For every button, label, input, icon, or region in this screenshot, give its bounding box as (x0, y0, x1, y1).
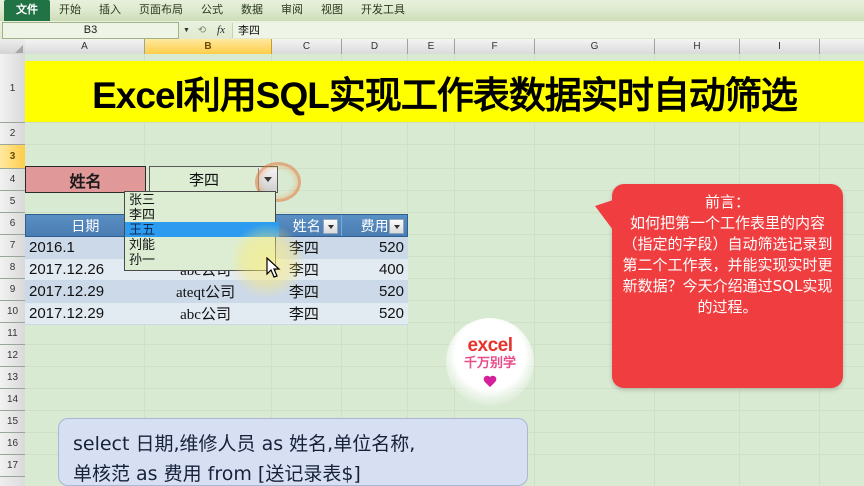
page-title: Excel利用SQL实现工作表数据实时自动筛选 (92, 65, 797, 119)
gridline (25, 388, 864, 389)
ribbon-tab-developer[interactable]: 开发工具 (352, 1, 414, 21)
cell-name: 李四 (268, 259, 340, 280)
column-header-h[interactable]: H (655, 39, 740, 54)
column-header-e[interactable]: E (408, 39, 455, 54)
insert-function-icon[interactable]: fx (210, 23, 232, 38)
cell-fee: 520 (340, 237, 408, 258)
column-header-j[interactable] (820, 39, 864, 54)
callout-text: 前言： 如何把第一个工作表里的内容（指定的字段）自动筛选记录到第二个工作表，并能… (612, 184, 843, 318)
row-header-16[interactable]: 16 (0, 433, 25, 455)
cell-company: ateqt公司 (143, 281, 268, 302)
row-header-12[interactable]: 12 (0, 345, 25, 367)
gridline (25, 122, 864, 123)
excel-window: 文件 开始 插入 页面布局 公式 数据 审阅 视图 开发工具 B3 ▼ ⟲ fx… (0, 0, 864, 486)
ribbon-tab-insert[interactable]: 插入 (90, 1, 130, 21)
ribbon-tab-file[interactable]: 文件 (4, 0, 50, 21)
excel-watermark-logo: excel 千万别学 (446, 318, 534, 406)
title-banner: Excel利用SQL实现工作表数据实时自动筛选 (25, 61, 864, 122)
filter-label-name: 姓名 (25, 166, 146, 193)
name-box-chevron-down-icon[interactable]: ▼ (179, 23, 194, 38)
select-all-corner[interactable] (0, 39, 26, 54)
row-header-8[interactable]: 8 (0, 257, 25, 279)
heart-icon (483, 376, 497, 389)
ribbon-tab-data[interactable]: 数据 (232, 1, 272, 21)
ribbon-tab-view[interactable]: 视图 (312, 1, 352, 21)
dropdown-option-lisi[interactable]: 李四 (125, 207, 275, 222)
column-header-f[interactable]: F (455, 39, 535, 54)
column-header-b[interactable]: B (145, 39, 272, 54)
cell-company: abc公司 (143, 303, 268, 324)
column-header-i[interactable]: I (740, 39, 820, 54)
cell-fee: 400 (340, 259, 408, 280)
row-header-2[interactable]: 2 (0, 123, 25, 145)
dropdown-option-wangwu[interactable]: 王五 (125, 222, 279, 237)
ribbon-tab-review[interactable]: 审阅 (272, 1, 312, 21)
name-box[interactable]: B3 (2, 22, 179, 39)
row-header-5[interactable]: 5 (0, 191, 25, 213)
row-header-6[interactable]: 6 (0, 213, 25, 235)
ribbon-tab-bar: 文件 开始 插入 页面布局 公式 数据 审阅 视图 开发工具 (0, 0, 864, 22)
column-header-d[interactable]: D (342, 39, 408, 54)
sql-line-1: select 日期,维修人员 as 姓名,单位名称, (73, 429, 513, 459)
row-header-17[interactable]: 17 (0, 455, 25, 477)
undo-icon[interactable]: ⟲ (194, 23, 210, 38)
intro-callout: 前言： 如何把第一个工作表里的内容（指定的字段）自动筛选记录到第二个工作表，并能… (612, 184, 843, 388)
dropdown-option-zhangsan[interactable]: 张三 (125, 192, 275, 207)
table-header-name: 姓名 (272, 215, 342, 236)
sql-line-2: 单核范 as 费用 from [送记录表$] (73, 459, 513, 486)
column-header-c[interactable]: C (272, 39, 342, 54)
chevron-down-icon[interactable] (258, 168, 277, 191)
table-row[interactable]: 2017.12.29 ateqt公司 李四 520 (25, 281, 408, 303)
name-filter-combobox[interactable]: 李四 (149, 166, 278, 193)
dropdown-option-sunyi[interactable]: 孙一 (125, 252, 275, 267)
table-header-name-label: 姓名 (293, 216, 321, 236)
formula-input[interactable]: 李四 (232, 23, 864, 38)
row-header-3[interactable]: 3 (0, 145, 25, 169)
row-header-15[interactable]: 15 (0, 411, 25, 433)
cell-fee: 520 (340, 281, 408, 302)
filter-dropdown-icon-fee[interactable] (389, 219, 404, 234)
filter-dropdown-icon-name[interactable] (323, 219, 338, 234)
dropdown-option-liuneng[interactable]: 刘能 (125, 237, 275, 252)
table-header-fee-label: 费用 (361, 216, 389, 236)
sql-statement-box: select 日期,维修人员 as 姓名,单位名称, 单核范 as 费用 fro… (58, 418, 528, 486)
callout-body: 如何把第一个工作表里的内容（指定的字段）自动筛选记录到第二个工作表，并能实现实时… (622, 214, 832, 316)
row-header-9[interactable]: 9 (0, 279, 25, 301)
watermark-line-2: 千万别学 (464, 355, 516, 370)
gridline (25, 144, 864, 145)
cell-fee: 520 (340, 303, 408, 324)
ribbon-tab-home[interactable]: 开始 (50, 1, 90, 21)
row-header-14[interactable]: 14 (0, 389, 25, 411)
row-header-13[interactable]: 13 (0, 367, 25, 389)
formula-bar: B3 ▼ ⟲ fx 李四 (0, 21, 864, 40)
cell-name: 李四 (268, 303, 340, 324)
cell-date: 2017.12.29 (25, 303, 143, 324)
cell-date: 2017.12.29 (25, 281, 143, 302)
row-header-11[interactable]: 11 (0, 323, 25, 345)
column-header-a[interactable]: A (25, 39, 145, 54)
row-header-1[interactable]: 1 (0, 54, 25, 123)
row-header-10[interactable]: 10 (0, 301, 25, 323)
cell-name: 李四 (268, 281, 340, 302)
ribbon-tab-formulas[interactable]: 公式 (192, 1, 232, 21)
table-row[interactable]: 2017.12.29 abc公司 李四 520 (25, 303, 408, 325)
name-filter-value: 李四 (150, 169, 258, 190)
cell-name: 李四 (268, 237, 340, 258)
column-header-bar: A B C D E F G H I (0, 39, 864, 55)
row-header-bar: 1 2 3 4 5 6 7 8 9 10 11 12 13 14 15 16 1… (0, 54, 26, 486)
name-filter-dropdown-list[interactable]: 张三 李四 王五 刘能 孙一 (124, 191, 276, 271)
callout-heading: 前言： (622, 192, 833, 213)
row-header-4[interactable]: 4 (0, 169, 25, 191)
gridline (25, 410, 864, 411)
row-header-7[interactable]: 7 (0, 235, 25, 257)
table-header-fee: 费用 (342, 215, 407, 236)
ribbon-tab-page-layout[interactable]: 页面布局 (130, 1, 192, 21)
watermark-line-1: excel (467, 336, 512, 355)
callout-tail (595, 200, 613, 230)
column-header-g[interactable]: G (535, 39, 655, 54)
